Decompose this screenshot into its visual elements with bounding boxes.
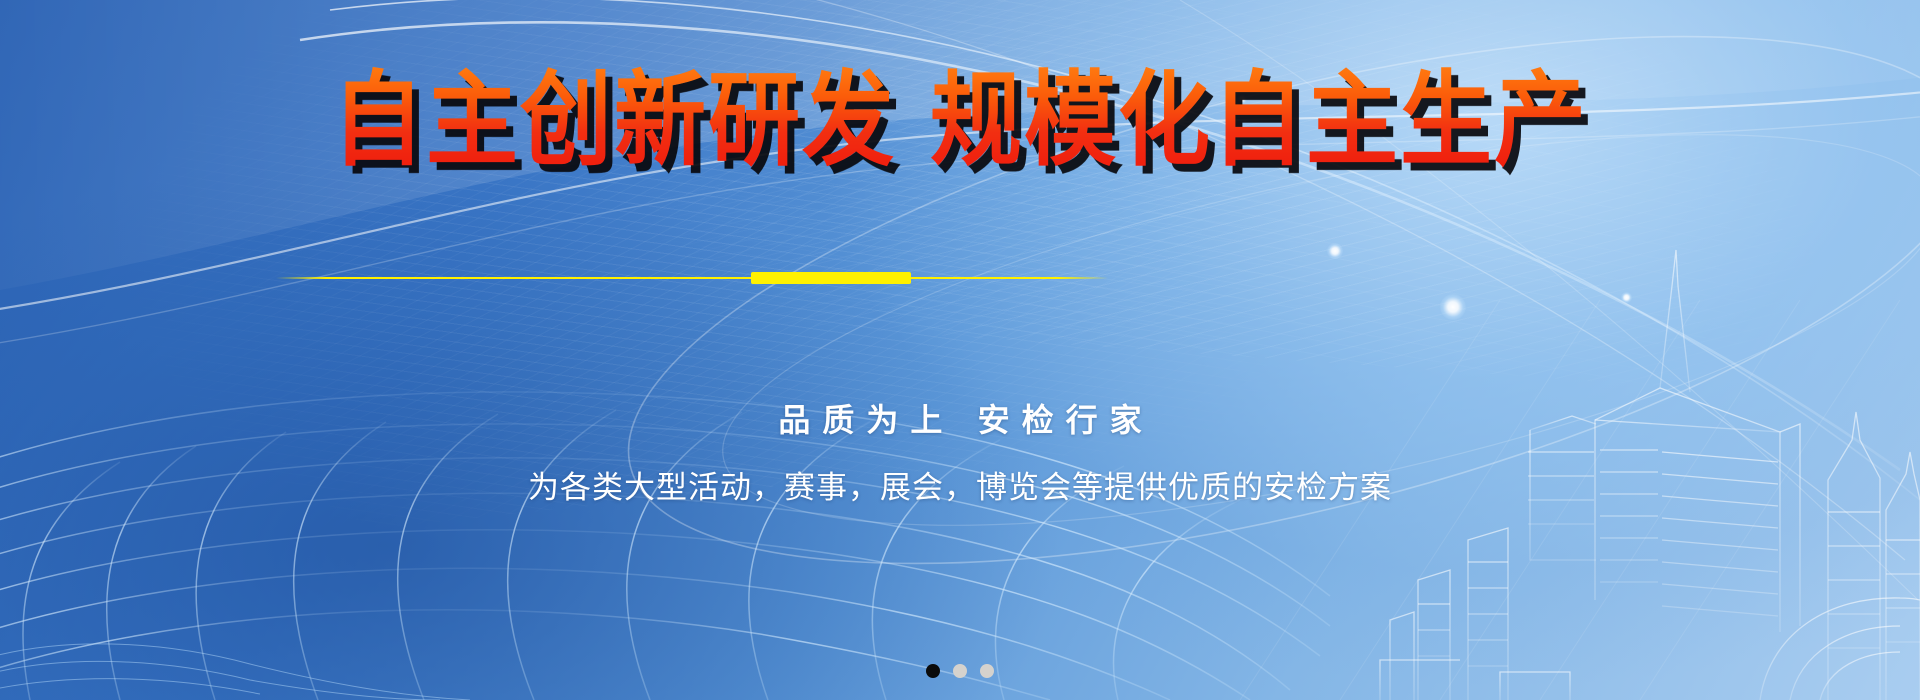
- divider: [276, 272, 1108, 284]
- carousel-dot-2[interactable]: [953, 664, 967, 678]
- glow-node-1: [1440, 294, 1466, 320]
- divider-thin-line: [276, 277, 1108, 279]
- headline-container: 自主创新研发 规模化自主生产: [0, 66, 1920, 164]
- subtitle-container: 品质为上 安检行家 为各类大型活动，赛事，展会，博览会等提供优质的安检方案: [0, 395, 1920, 507]
- hero-banner[interactable]: 自主创新研发 规模化自主生产 品质为上 安检行家 为各类大型活动，赛事，展会，博…: [0, 0, 1920, 700]
- carousel-dots[interactable]: [0, 664, 1920, 678]
- page-title: 自主创新研发 规模化自主生产: [332, 66, 1588, 175]
- glow-node-2: [1327, 243, 1343, 259]
- subtitle-description: 为各类大型活动，赛事，展会，博览会等提供优质的安检方案: [0, 462, 1920, 507]
- carousel-dot-1[interactable]: [926, 664, 940, 678]
- divider-accent-block: [751, 272, 911, 284]
- glow-node-5: [1621, 292, 1632, 303]
- subtitle-slogan: 品质为上 安检行家: [0, 395, 1920, 441]
- carousel-dot-3[interactable]: [980, 664, 994, 678]
